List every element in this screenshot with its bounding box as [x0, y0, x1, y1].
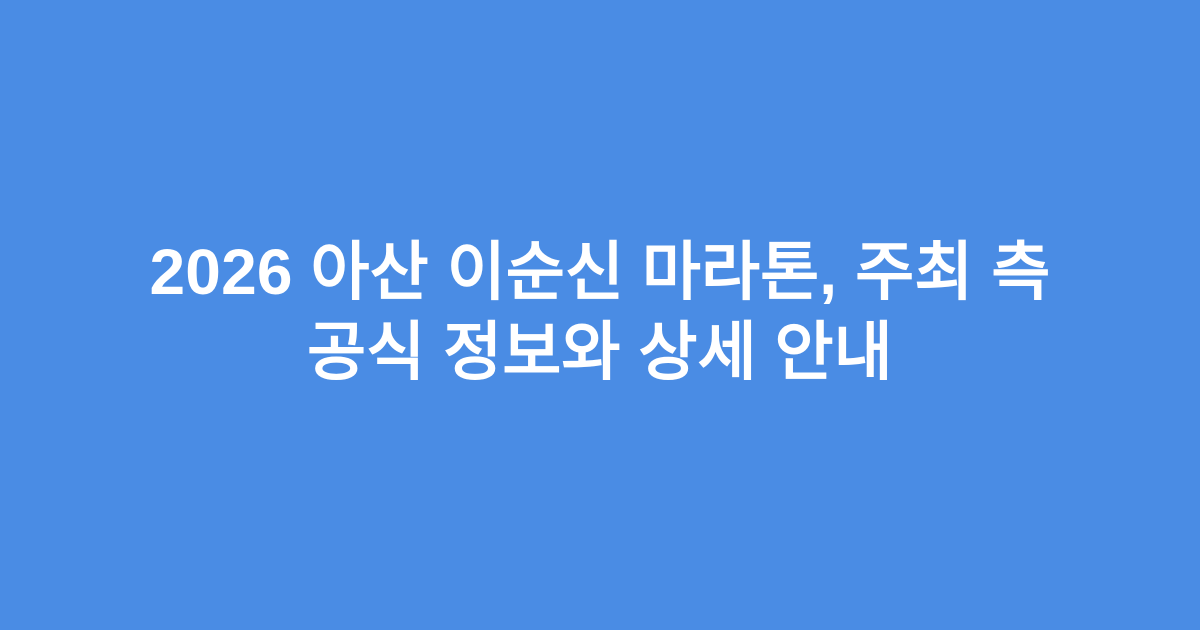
- page-title-line-1: 2026 아산 이순신 마라톤, 주최 측: [110, 232, 1090, 312]
- og-share-card: 2026 아산 이순신 마라톤, 주최 측 공식 정보와 상세 안내: [0, 0, 1200, 630]
- page-title: 2026 아산 이순신 마라톤, 주최 측 공식 정보와 상세 안내: [70, 232, 1130, 392]
- page-title-line-2: 공식 정보와 상세 안내: [110, 312, 1090, 392]
